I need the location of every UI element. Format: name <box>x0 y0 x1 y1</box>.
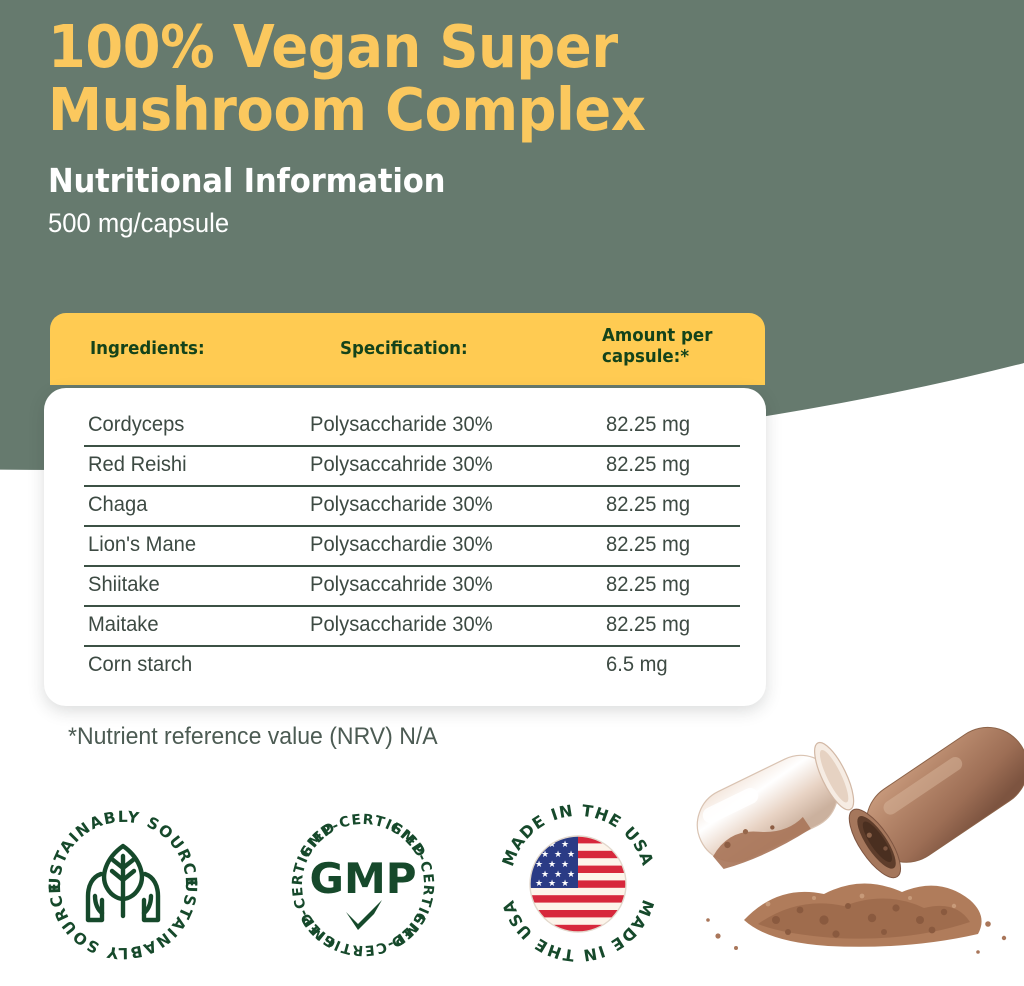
page-title: 100% Vegan Super Mushroom Complex <box>48 16 747 141</box>
cell-specification: Polysaccharide 30% <box>310 613 493 637</box>
cell-specification: Polysaccahride 30% <box>310 453 493 477</box>
cell-specification: Polysaccahride 30% <box>310 573 493 597</box>
cell-ingredient: Red Reishi <box>88 453 187 477</box>
table-row: Lion's ManePolysacchardie 30%82.25 mg <box>44 525 766 565</box>
cell-amount: 82.25 mg <box>606 413 690 437</box>
cell-specification: Polysaccharide 30% <box>310 413 493 437</box>
nutrition-label-page: 100% Vegan Super Mushroom Complex Nutrit… <box>0 0 1024 986</box>
column-header-amount: Amount per capsule:* <box>602 326 745 369</box>
svg-text:★: ★ <box>567 850 575 860</box>
badge-sustainably-sourced: SUSTAINABLY SOURCED SUSTAINABLY SOURCED <box>38 800 208 970</box>
table-row: Corn starch6.5 mg <box>44 645 766 685</box>
cell-amount: 82.25 mg <box>606 493 690 517</box>
cell-ingredient: Lion's Mane <box>88 533 196 557</box>
dose-text: 500 mg/capsule <box>48 209 770 239</box>
svg-text:★: ★ <box>554 850 562 860</box>
nrv-footnote: *Nutrient reference value (NRV) N/A <box>68 723 438 751</box>
svg-text:★: ★ <box>561 840 569 850</box>
table-header: Ingredients: Specification: Amount per c… <box>50 313 765 385</box>
svg-text:★: ★ <box>548 879 556 889</box>
table-row: ChagaPolysaccharide 30%82.25 mg <box>44 485 766 525</box>
cell-amount: 82.25 mg <box>606 613 690 637</box>
hands-holding-leaf-icon <box>88 846 158 920</box>
cell-amount: 82.25 mg <box>606 453 690 477</box>
cell-amount: 82.25 mg <box>606 533 690 557</box>
section-subtitle: Nutritional Information <box>48 163 755 199</box>
nutrition-table-body: CordycepsPolysaccharide 30%82.25 mgRed R… <box>44 388 766 685</box>
cell-ingredient: Chaga <box>88 493 147 517</box>
table-row: Red ReishiPolysaccahride 30%82.25 mg <box>44 445 766 485</box>
nutrition-table-card: CordycepsPolysaccharide 30%82.25 mgRed R… <box>44 388 766 706</box>
checkmark-icon <box>346 900 382 930</box>
cell-specification: Polysacchardie 30% <box>310 533 493 557</box>
cell-amount: 6.5 mg <box>606 653 668 677</box>
table-row: ShiitakePolysaccahride 30%82.25 mg <box>44 565 766 605</box>
cell-amount: 82.25 mg <box>606 573 690 597</box>
table-row: CordycepsPolysaccharide 30%82.25 mg <box>44 405 766 445</box>
badge-center-label: GMP <box>309 854 416 903</box>
badge-gmp-certified: GMP-CERTIFIED GMP-CERTIFIED GMP-CERTIFIE… <box>278 800 448 970</box>
svg-text:★: ★ <box>561 879 569 889</box>
badge-made-in-usa: MADE IN THE USA MADE IN THE USA <box>493 798 663 968</box>
title-block: 100% Vegan Super Mushroom Complex Nutrit… <box>48 16 808 239</box>
column-header-ingredients: Ingredients: <box>90 339 205 360</box>
cell-ingredient: Cordyceps <box>88 413 184 437</box>
column-header-specification: Specification: <box>340 339 468 360</box>
capsule-powder-photo <box>648 724 1024 986</box>
cell-ingredient: Shiitake <box>88 573 160 597</box>
svg-text:★: ★ <box>535 879 543 889</box>
svg-text:★: ★ <box>535 840 543 850</box>
svg-text:★: ★ <box>561 860 569 870</box>
cell-ingredient: Maitake <box>88 613 159 637</box>
table-row: MaitakePolysaccharide 30%82.25 mg <box>44 605 766 645</box>
cell-specification: Polysaccharide 30% <box>310 493 493 517</box>
svg-text:★: ★ <box>548 860 556 870</box>
cell-ingredient: Corn starch <box>88 653 192 677</box>
